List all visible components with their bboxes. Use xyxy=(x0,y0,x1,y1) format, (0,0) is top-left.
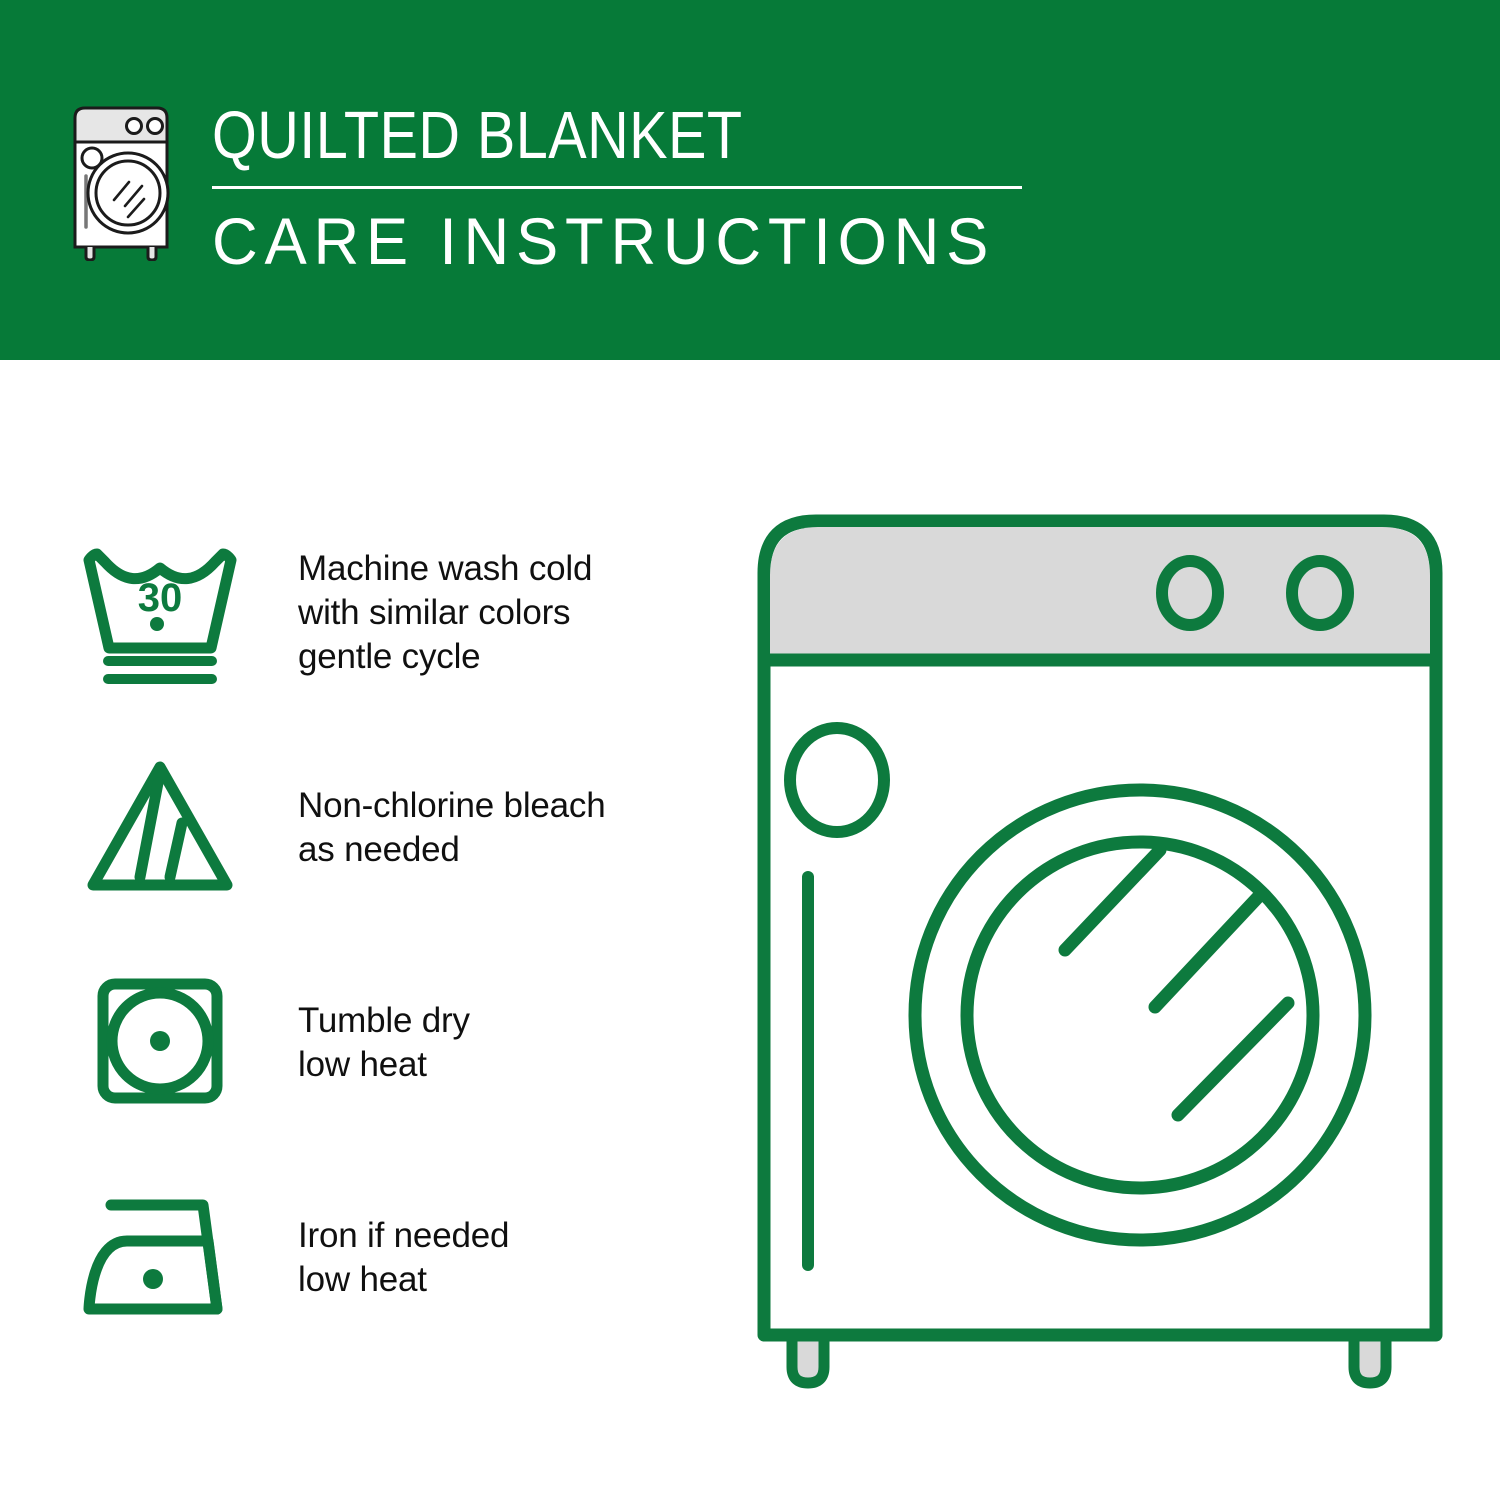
care-row-tumble-dry: Tumble dry low heat xyxy=(70,935,720,1150)
front-load-washing-machine-illustration xyxy=(740,495,1460,1425)
care-line: gentle cycle xyxy=(298,635,720,679)
care-text-machine-wash: Machine wash cold with similar colors ge… xyxy=(250,547,720,679)
care-line: low heat xyxy=(298,1258,720,1302)
care-line: as needed xyxy=(298,828,720,872)
title-divider xyxy=(212,186,1022,189)
care-line: Machine wash cold xyxy=(298,547,720,591)
care-row-machine-wash: 30 Machine wash cold with similar colors… xyxy=(70,505,720,720)
non-chlorine-bleach-triangle-icon xyxy=(70,753,250,903)
care-row-bleach: Non-chlorine bleach as needed xyxy=(70,720,720,935)
washing-machine-icon xyxy=(60,96,190,261)
care-line: Non-chlorine bleach xyxy=(298,784,720,828)
care-line: low heat xyxy=(298,1043,720,1087)
care-line: with similar colors xyxy=(298,591,720,635)
header-title-block: QUILTED BLANKET CARE INSTRUCTIONS xyxy=(212,100,1028,277)
iron-low-heat-icon xyxy=(70,1183,250,1333)
care-instructions-page: QUILTED BLANKET CARE INSTRUCTIONS 30 xyxy=(0,0,1500,1500)
control-panel xyxy=(770,527,1430,660)
care-instruction-list: 30 Machine wash cold with similar colors… xyxy=(70,505,720,1365)
care-text-iron: Iron if needed low heat xyxy=(250,1214,720,1302)
care-line: Iron if needed xyxy=(298,1214,720,1258)
header-content: QUILTED BLANKET CARE INSTRUCTIONS xyxy=(60,96,1028,277)
care-text-bleach: Non-chlorine bleach as needed xyxy=(250,784,720,872)
page-subtitle: CARE INSTRUCTIONS xyxy=(212,205,995,277)
page-title: QUILTED BLANKET xyxy=(212,100,914,172)
care-text-tumble-dry: Tumble dry low heat xyxy=(250,999,720,1087)
page-header: QUILTED BLANKET CARE INSTRUCTIONS xyxy=(0,0,1500,360)
tumble-dry-low-icon xyxy=(70,968,250,1118)
machine-wash-30-icon: 30 xyxy=(70,538,250,688)
care-line: Tumble dry xyxy=(298,999,720,1043)
wash-temperature-label: 30 xyxy=(138,576,183,620)
care-row-iron: Iron if needed low heat xyxy=(70,1150,720,1365)
